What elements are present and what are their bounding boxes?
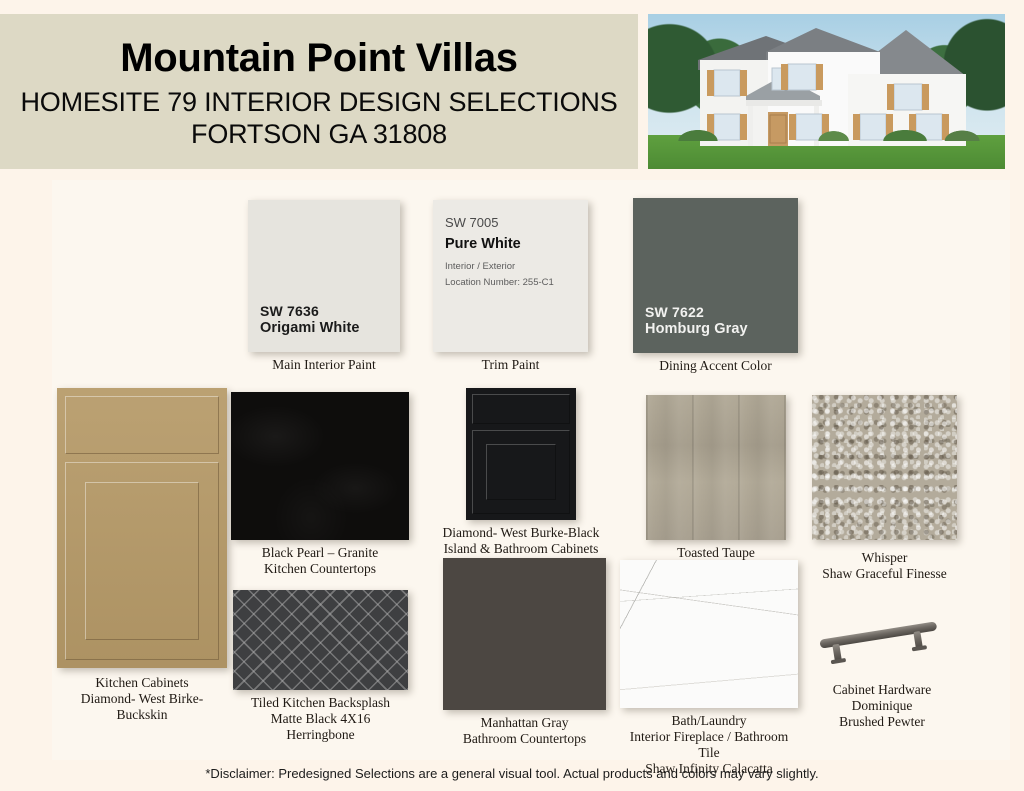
tile-sample-calacatta-marble [620,560,798,708]
selection-flooring-lvp[interactable]: Toasted Taupe LVP [646,395,786,577]
selection-caption: Kitchen Cabinets Diamond- West Birke- Bu… [57,675,227,723]
selection-caption: Tiled Kitchen Backsplash Matte Black 4X1… [233,695,408,743]
countertop-sample-manhattan-gray [443,558,606,710]
selection-caption: Whisper Shaw Graceful Finesse [812,550,957,582]
paint-usage: Interior / Exterior [445,260,554,273]
selection-kitchen-backsplash[interactable]: Tiled Kitchen Backsplash Matte Black 4X1… [233,590,408,743]
selection-dining-accent-color[interactable]: SW 7622 Homburg Gray Dining Accent Color [633,198,798,374]
selection-caption: Dining Accent Color [633,358,798,374]
board-header: Mountain Point Villas HOMESITE 79 INTERI… [0,14,1010,169]
selection-trim-paint[interactable]: SW 7005 Pure White Interior / Exterior L… [433,200,588,373]
selection-kitchen-cabinets[interactable]: Kitchen Cabinets Diamond- West Birke- Bu… [57,388,227,723]
paint-name: Homburg Gray [645,321,748,339]
selection-caption: Manhattan Gray Bathroom Countertops [443,715,606,747]
door-recessed-panel [486,444,556,500]
lvp-sample-toasted-taupe [646,395,786,540]
house-illustration [648,14,1005,169]
drawer-front-panel [472,394,570,424]
paint-code: SW 7005 [445,214,554,232]
paint-code: SW 7636 [260,303,360,320]
drawer-front-panel [65,396,219,454]
header-subtitle-line1: HOMESITE 79 INTERIOR DESIGN SELECTIONS [20,86,617,118]
selection-caption: Black Pearl – Granite Kitchen Countertop… [231,545,409,577]
paint-chip-pure-white: SW 7005 Pure White Interior / Exterior L… [433,200,588,352]
selection-island-bathroom-cabinets[interactable]: Diamond- West Burke-Black Island & Bathr… [466,388,576,557]
cabinet-door-sample-black [466,388,576,520]
selection-main-interior-paint[interactable]: SW 7636 Origami White Main Interior Pain… [248,200,400,373]
cabinet-door-sample-buckskin [57,388,227,668]
tile-sample-herringbone-matte-black [233,590,408,690]
granite-sample-black-pearl [231,392,409,540]
selection-caption: Trim Paint [433,357,588,373]
selection-kitchen-countertops[interactable]: Black Pearl – Granite Kitchen Countertop… [231,392,409,577]
selection-caption: Main Interior Paint [248,357,400,373]
header-subtitle-line2: FORTSON GA 31808 [191,118,447,150]
paint-chip-origami-white: SW 7636 Origami White [248,200,400,352]
selections-board: SW 7636 Origami White Main Interior Pain… [0,170,1024,791]
door-recessed-panel [85,482,199,640]
hardware-sample-bar-pull [802,600,962,678]
paint-code: SW 7622 [645,304,748,321]
paint-location-number: Location Number: 255-C1 [445,276,554,289]
landscaping-shrubs [648,123,1005,142]
selection-cabinet-hardware[interactable]: Cabinet Hardware Dominique Brushed Pewte… [802,600,962,730]
header-title-block: Mountain Point Villas HOMESITE 79 INTERI… [0,14,638,169]
house-elevation-photo [648,14,1005,169]
selection-bath-laundry-tile[interactable]: Bath/Laundry Interior Fireplace / Bathro… [620,560,798,777]
paint-chip-homburg-gray: SW 7622 Homburg Gray [633,198,798,353]
selection-carpet[interactable]: Whisper Shaw Graceful Finesse [812,395,957,582]
selection-caption: Cabinet Hardware Dominique Brushed Pewte… [802,682,962,730]
selection-bathroom-countertops[interactable]: Manhattan Gray Bathroom Countertops [443,558,606,747]
carpet-sample-whisper [812,395,957,540]
paint-name: Origami White [260,320,360,338]
selection-caption: Diamond- West Burke-Black Island & Bathr… [436,525,606,557]
disclaimer-text: *Disclaimer: Predesigned Selections are … [0,766,1024,781]
bar-pull-icon [802,600,962,678]
paint-name: Pure White [445,234,554,255]
page-title: Mountain Point Villas [120,37,517,79]
